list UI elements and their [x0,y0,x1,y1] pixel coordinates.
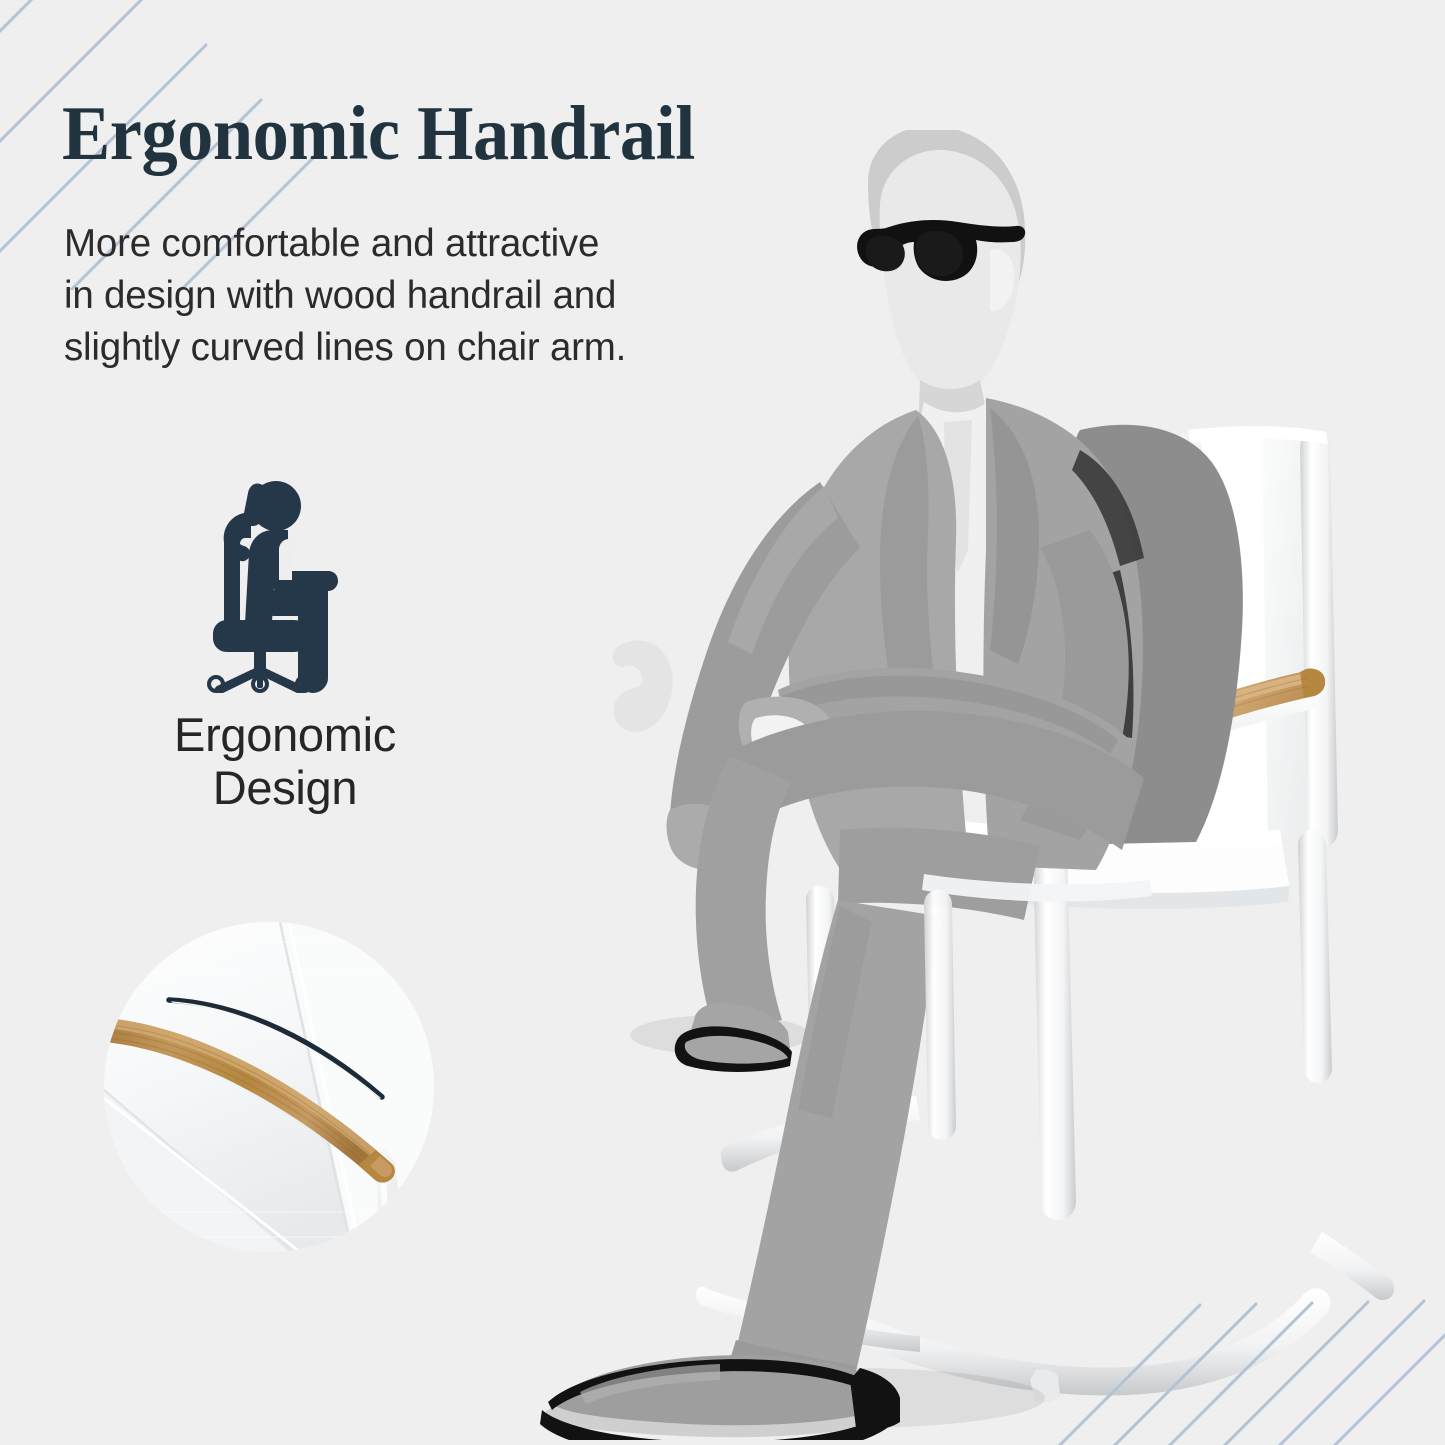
hand-silhouette-ghost [613,641,673,732]
badge-label-line-1: Ergonomic [80,709,490,762]
hero-illustration [520,130,1445,1440]
infographic-canvas: Ergonomic Handrail More comfortable and … [0,0,1445,1445]
wood-handrail-closeup-inset [104,922,434,1252]
badge-label-line-2: Design [80,762,490,815]
badge-label: Ergonomic Design [80,709,490,814]
seated-man [540,130,1243,1440]
jacket-left [789,410,970,876]
person-sitting-office-chair-icon [190,478,380,693]
ergonomic-design-badge: Ergonomic Design [80,478,490,814]
lower-shoe [540,1355,900,1440]
